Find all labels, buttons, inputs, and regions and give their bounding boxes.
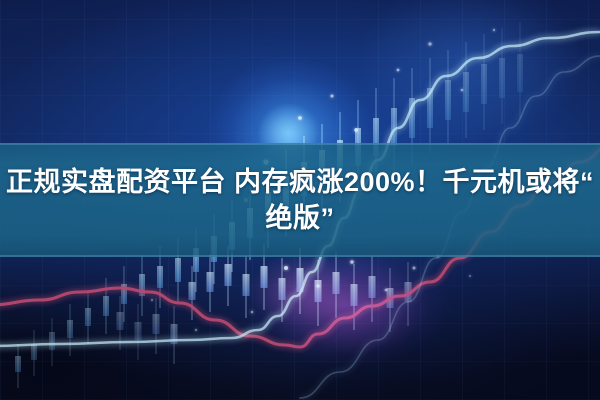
headline-line-2: 绝版” (266, 200, 335, 236)
banner-image: 正规实盘配资平台 内存疯涨200%！千元机或将“ 绝版” (0, 0, 600, 400)
headline-line-1: 正规实盘配资平台 内存疯涨200%！千元机或将“ (6, 164, 594, 200)
headline-block: 正规实盘配资平台 内存疯涨200%！千元机或将“ 绝版” (0, 143, 600, 257)
